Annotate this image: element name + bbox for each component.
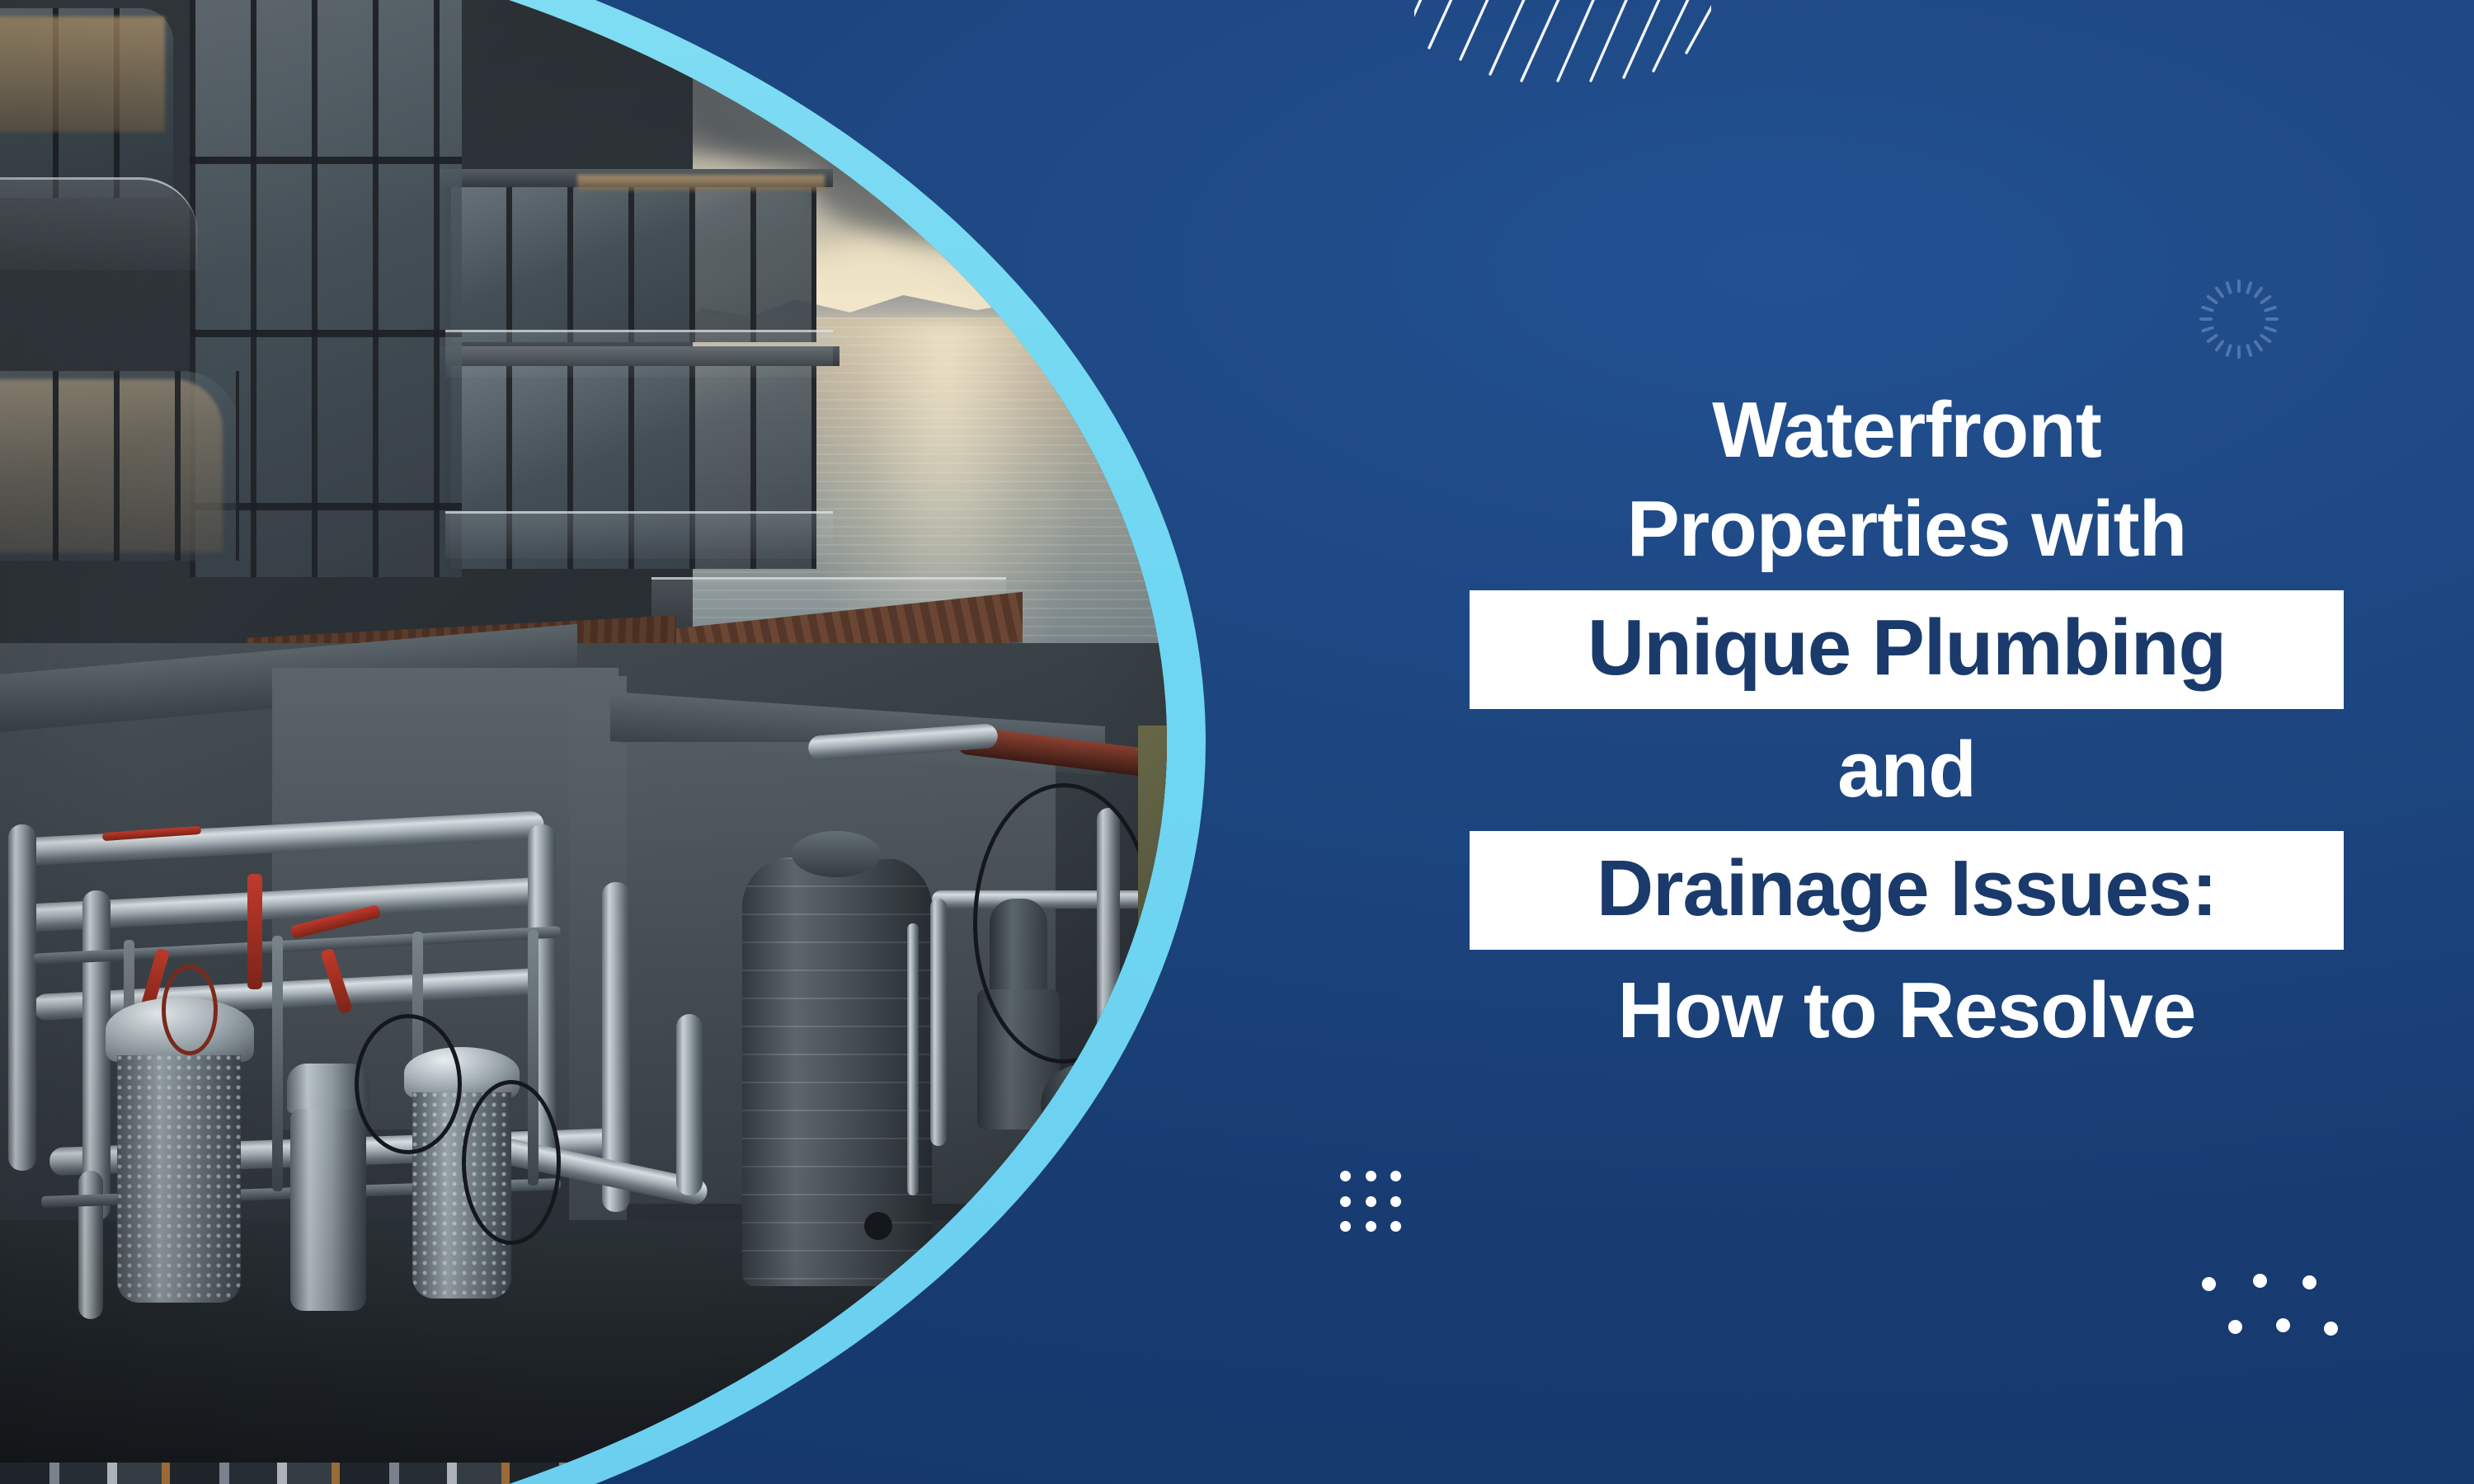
headline-line-2: Properties with	[1470, 480, 2344, 579]
headline-line-5-highlight: Drainage Issues:	[1470, 831, 2344, 950]
headline-line-1: Waterfront	[1470, 381, 2344, 480]
poster-canvas: Waterfront Properties with Unique Plumbi…	[0, 0, 2474, 1484]
headline-line-3-highlight: Unique Plumbing	[1470, 590, 2344, 709]
headline-line-6: How to Resolve	[1470, 961, 2344, 1060]
headline-line-4: and	[1470, 721, 2344, 819]
dot-grid-icon	[1340, 1171, 1416, 1247]
diagonal-hatch-lines-icon	[1414, 0, 1711, 96]
sunburst-icon	[2185, 265, 2293, 373]
dot-scatter-icon	[2202, 1274, 2342, 1348]
headline: Waterfront Properties with Unique Plumbi…	[1470, 381, 2344, 1060]
